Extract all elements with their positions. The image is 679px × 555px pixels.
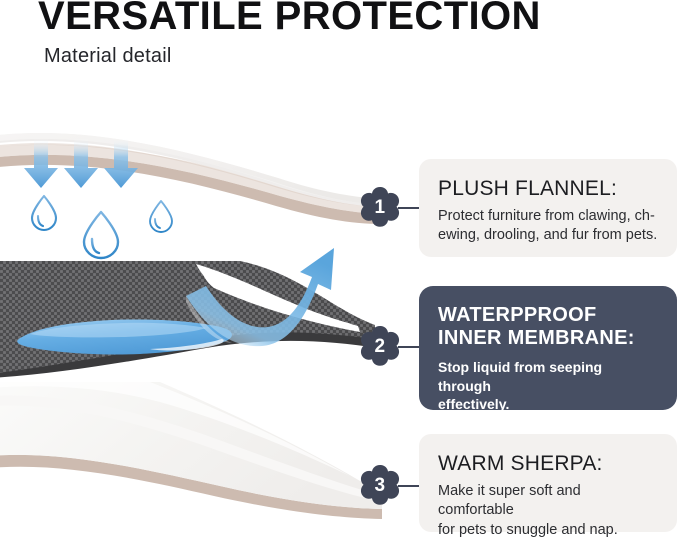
callout-title: WATERPPROOF INNER MEMBRANE: bbox=[438, 304, 658, 350]
callout-body-line: Stop liquid from seeping through bbox=[438, 358, 658, 395]
callout-body-line: Protect furniture from clawing, ch- bbox=[438, 207, 658, 226]
water-droplet-group bbox=[32, 196, 172, 258]
callout-body: Protect furniture from clawing, ch- ewin… bbox=[438, 207, 658, 246]
warm-sherpa-layer bbox=[0, 382, 382, 519]
down-arrow-group bbox=[24, 138, 138, 188]
page-header: VERSATILE PROTECTION Material detail bbox=[0, 0, 679, 100]
step-badge-2[interactable]: 2 bbox=[357, 324, 403, 370]
page-title: VERSATILE PROTECTION bbox=[38, 0, 541, 39]
water-droplet-icon bbox=[150, 201, 172, 232]
callout-card-waterproof-membrane[interactable]: WATERPPROOF INNER MEMBRANE: Stop liquid … bbox=[419, 286, 677, 410]
callout-title: PLUSH FLANNEL: bbox=[438, 177, 658, 200]
callout-body-line: ewing, drooling, and fur from pets. bbox=[438, 226, 658, 245]
callout-card-plush-flannel[interactable]: PLUSH FLANNEL: Protect furniture from cl… bbox=[419, 159, 677, 257]
callout-body-line: for pets to snuggle and nap. bbox=[438, 521, 658, 540]
step-badge-number: 3 bbox=[357, 463, 403, 509]
callout-body-line: Make it super soft and comfortable bbox=[438, 482, 658, 521]
callout-body: Stop liquid from seeping through effecti… bbox=[438, 358, 658, 413]
water-droplet-icon bbox=[84, 212, 118, 258]
step-badge-number: 1 bbox=[357, 185, 403, 231]
step-badge-3[interactable]: 3 bbox=[357, 463, 403, 509]
page-subtitle: Material detail bbox=[44, 45, 172, 68]
callout-title-line: INNER MEMBRANE: bbox=[438, 327, 658, 350]
step-badge-1[interactable]: 1 bbox=[357, 185, 403, 231]
water-droplet-icon bbox=[32, 196, 56, 230]
callout-body: Make it super soft and comfortable for p… bbox=[438, 482, 658, 540]
callout-title-line: WATERPPROOF bbox=[438, 304, 658, 327]
callout-title: WARM SHERPA: bbox=[438, 452, 658, 475]
step-badge-number: 2 bbox=[357, 324, 403, 370]
callout-body-line: effectively. bbox=[438, 395, 658, 413]
callout-card-warm-sherpa[interactable]: WARM SHERPA: Make it super soft and comf… bbox=[419, 434, 677, 532]
